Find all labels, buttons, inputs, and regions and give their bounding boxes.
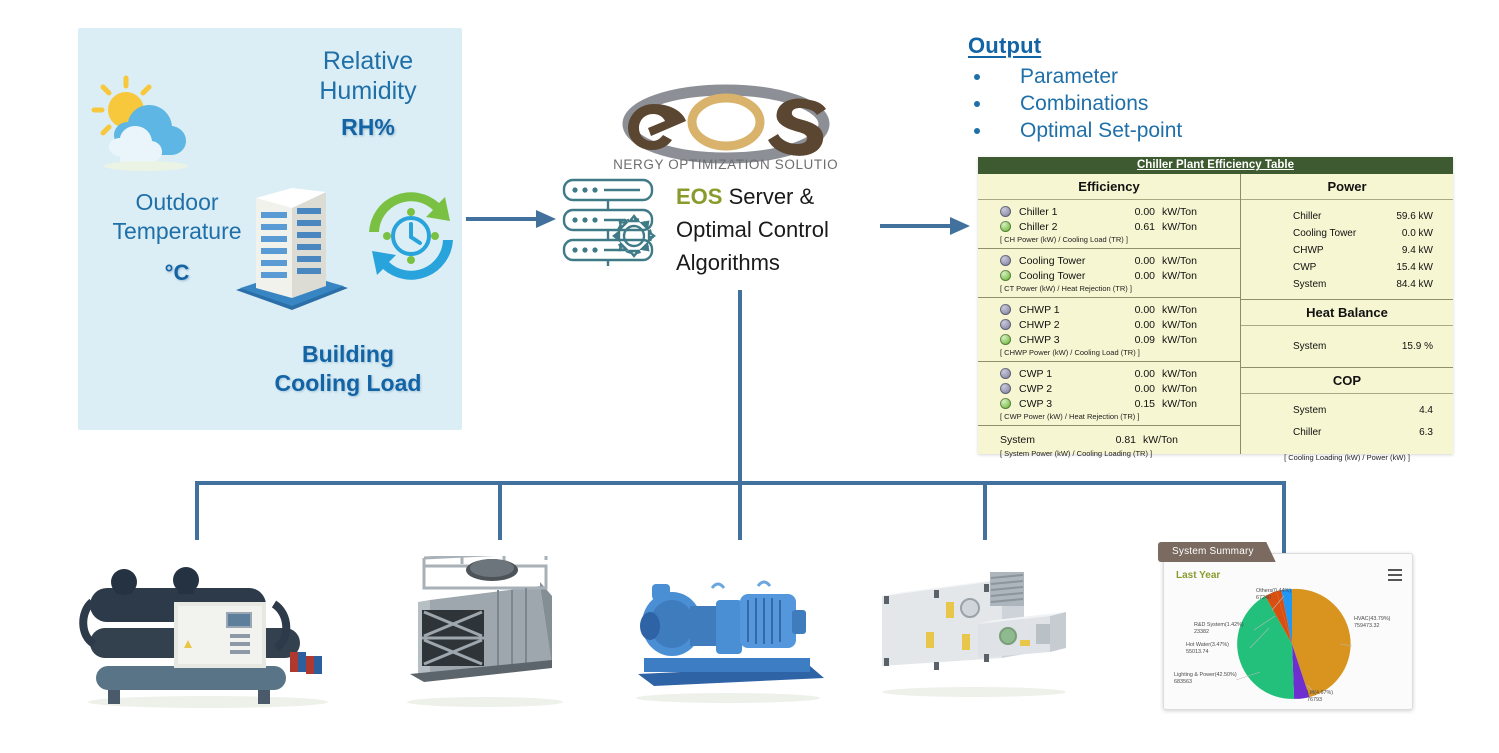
row-value: 0.00 (1115, 383, 1155, 395)
row-value: 4.4 (1373, 405, 1433, 416)
eos-tagline: ENERGY OPTIMIZATION SOLUTION (614, 157, 839, 172)
efficiency-group-cwp: CWP 1 0.00 kW/Ton CWP 2 0.00 kW/Ton CWP … (978, 362, 1240, 426)
row-label: Cooling Tower (1019, 255, 1115, 267)
pie-label-lift: Lift(4.67%)76793 (1307, 690, 1333, 704)
efficiency-group-cooling-tower: Cooling Tower 0.00 kW/Ton Cooling Tower … (978, 249, 1240, 298)
row-label: System (1293, 405, 1373, 416)
status-dot-icon (1000, 398, 1011, 409)
row-label: CHWP 2 (1019, 319, 1115, 331)
cop-rows: System 4.4 Chiller 6.3 (1241, 394, 1453, 443)
row-value: 0.00 (1115, 304, 1155, 316)
row-value: 0.15 (1115, 398, 1155, 410)
arrow-eos-to-output (880, 215, 970, 237)
row-label: CWP 1 (1019, 368, 1115, 380)
status-dot-icon (1000, 304, 1011, 315)
row-value: 0.00 (1115, 368, 1155, 380)
pie-label-others: Others(0.44%)67240 (1256, 588, 1291, 602)
diagram-canvas: RelativeHumidity RH% OutdoorTemperature … (0, 0, 1499, 753)
row-unit: kW/Ton (1155, 319, 1203, 331)
cop-title: COP (1241, 367, 1453, 394)
row-label: System (1000, 434, 1096, 446)
output-item-combinations: Combinations (968, 90, 1268, 117)
bullet-icon (974, 128, 980, 134)
row-label: CWP 3 (1019, 398, 1115, 410)
row-unit: kW/Ton (1155, 221, 1203, 233)
cop-note: [ Cooling Loading (kW) / Power (kW) ] (1241, 443, 1453, 462)
row-value: 0.00 (1115, 255, 1155, 267)
power-column: Power Chiller 59.6 kW Cooling Tower 0.0 … (1241, 174, 1453, 454)
output-item-parameter: Parameter (968, 63, 1268, 90)
table-row: CWP 15.4 kW (1241, 259, 1453, 276)
group-note: [ CWP Power (kW) / Heat Rejection (TR) ] (978, 411, 1240, 423)
dashboard-tab-label[interactable]: System Summary (1158, 542, 1276, 562)
row-unit: kW/Ton (1155, 368, 1203, 380)
output-item-label: Combinations (1020, 92, 1148, 115)
row-unit: kW/Ton (1155, 270, 1203, 282)
sun-cloud-icon (86, 70, 206, 182)
row-label: CWP 2 (1019, 383, 1115, 395)
output-item-optimal-setpoint: Optimal Set-point (968, 117, 1268, 144)
eos-server-caption: EOS Server & Optimal Control Algorithms (676, 180, 896, 279)
table-row: Cooling Tower 0.00 kW/Ton (978, 268, 1240, 283)
table-row: CHWP 3 0.09 kW/Ton (978, 332, 1240, 347)
status-dot-icon (1000, 368, 1011, 379)
efficiency-column: Efficiency Chiller 1 0.00 kW/Ton Chiller… (978, 174, 1241, 454)
row-label: Cooling Tower (1019, 270, 1115, 282)
status-dot-icon (1000, 334, 1011, 345)
table-row: CHWP 9.4 kW (1241, 242, 1453, 259)
table-title: Chiller Plant Efficiency Table (978, 157, 1453, 174)
pie-chart: HVAC(43.79%)759473.32 Lift(4.67%)76793 L… (1164, 580, 1414, 708)
output-block: Output Parameter Combinations Optimal Se… (968, 33, 1268, 144)
building-cooling-load-label: BuildingCooling Load (238, 340, 458, 398)
row-label: Cooling Tower (1293, 228, 1373, 239)
row-value: 0.81 (1096, 434, 1136, 446)
row-value: 6.3 (1373, 427, 1433, 438)
heat-balance-rows: System 15.9 % (1241, 326, 1453, 367)
refresh-clock-icon (363, 188, 458, 286)
pie-label-hot-water: Hot Water(3.47%)55013.74 (1186, 642, 1229, 656)
chiller-plant-efficiency-table: Chiller Plant Efficiency Table Efficienc… (978, 157, 1453, 454)
efficiency-column-title: Efficiency (978, 174, 1240, 200)
row-label: Chiller (1293, 211, 1373, 222)
row-label: CHWP (1293, 245, 1373, 256)
status-dot-icon (1000, 221, 1011, 232)
table-row: CWP 3 0.15 kW/Ton (978, 396, 1240, 411)
row-value: 15.4 kW (1373, 262, 1433, 273)
status-dot-icon (1000, 383, 1011, 394)
row-label: System (1293, 341, 1373, 352)
row-unit: kW/Ton (1155, 398, 1203, 410)
row-value: 0.00 (1115, 270, 1155, 282)
efficiency-group-chwp: CHWP 1 0.00 kW/Ton CHWP 2 0.00 kW/Ton CH… (978, 298, 1240, 362)
status-dot-icon (1000, 206, 1011, 217)
ahu-photo (874, 566, 1074, 698)
chiller-photo (78, 556, 338, 708)
power-column-title: Power (1241, 174, 1453, 200)
row-unit: kW/Ton (1155, 334, 1203, 346)
pie-label-lighting-power: Lighting & Power(42.50%)683563 (1174, 672, 1237, 686)
table-row: Cooling Tower 0.00 kW/Ton (978, 253, 1240, 268)
status-dot-icon (1000, 270, 1011, 281)
row-value: 9.4 kW (1373, 245, 1433, 256)
table-row: Chiller 1 0.00 kW/Ton (978, 204, 1240, 219)
row-label: CWP (1293, 262, 1373, 273)
row-value: 15.9 % (1373, 341, 1433, 352)
table-row: System 15.9 % (1241, 338, 1453, 355)
row-value: 0.00 (1115, 206, 1155, 218)
efficiency-group-chiller: Chiller 1 0.00 kW/Ton Chiller 2 0.61 kW/… (978, 200, 1240, 249)
output-item-label: Parameter (1020, 65, 1118, 88)
eos-logo: ENERGY OPTIMIZATION SOLUTION (614, 62, 839, 174)
table-row: System 84.4 kW (1241, 276, 1453, 293)
row-label: System (1293, 279, 1373, 290)
row-label: Chiller 2 (1019, 221, 1115, 233)
row-unit: kW/Ton (1155, 255, 1203, 267)
efficiency-group-system: System 0.81 kW/Ton [ System Power (kW) /… (978, 426, 1240, 462)
row-value: 0.0 kW (1373, 228, 1433, 239)
row-unit: kW/Ton (1136, 434, 1184, 446)
bullet-icon (974, 101, 980, 107)
row-label: CHWP 3 (1019, 334, 1115, 346)
table-row: System 4.4 (1241, 402, 1453, 424)
cooling-tower-photo (400, 556, 570, 708)
group-note: [ CH Power (kW) / Cooling Load (TR) ] (978, 234, 1240, 246)
eos-caption-line1-rest: Server & (722, 184, 814, 209)
row-value: 0.00 (1115, 319, 1155, 331)
row-unit: kW/Ton (1155, 383, 1203, 395)
group-note: [ CHWP Power (kW) / Cooling Load (TR) ] (978, 347, 1240, 359)
pump-photo (628, 566, 828, 704)
relative-humidity-value: RH% (278, 114, 458, 141)
row-value: 0.61 (1115, 221, 1155, 233)
power-rows: Chiller 59.6 kW Cooling Tower 0.0 kW CHW… (1241, 200, 1453, 299)
table-row: CWP 1 0.00 kW/Ton (978, 366, 1240, 381)
output-item-label: Optimal Set-point (1020, 119, 1182, 142)
row-label: Chiller 1 (1019, 206, 1115, 218)
eos-caption-line3: Algorithms (676, 246, 896, 279)
row-value: 59.6 kW (1373, 211, 1433, 222)
row-value: 0.09 (1115, 334, 1155, 346)
row-unit: kW/Ton (1155, 206, 1203, 218)
arrow-input-to-eos (466, 208, 556, 230)
table-row: Chiller 6.3 (1241, 424, 1453, 441)
eos-brand-word: EOS (676, 184, 722, 209)
table-row: CWP 2 0.00 kW/Ton (978, 381, 1240, 396)
server-gear-icon (560, 176, 664, 266)
pie-label-rd-system: R&D System(1.42%)23382 (1194, 622, 1244, 636)
row-value: 84.4 kW (1373, 279, 1433, 290)
row-label: Chiller (1293, 427, 1373, 438)
table-row: Chiller 59.6 kW (1241, 208, 1453, 225)
table-row: CHWP 2 0.00 kW/Ton (978, 317, 1240, 332)
building-icon (226, 178, 356, 318)
table-row: Cooling Tower 0.0 kW (1241, 225, 1453, 242)
group-note: [ CT Power (kW) / Heat Rejection (TR) ] (978, 283, 1240, 295)
row-label: CHWP 1 (1019, 304, 1115, 316)
table-row: System 0.81 kW/Ton (978, 430, 1240, 448)
relative-humidity-label: RelativeHumidity (278, 46, 458, 106)
output-title: Output (968, 33, 1268, 59)
system-note: [ System Power (kW) / Cooling Loading (T… (978, 448, 1240, 460)
status-dot-icon (1000, 255, 1011, 266)
table-row: Chiller 2 0.61 kW/Ton (978, 219, 1240, 234)
status-dot-icon (1000, 319, 1011, 330)
bullet-icon (974, 74, 980, 80)
pie-label-hvac: HVAC(43.79%)759473.32 (1354, 616, 1390, 630)
heat-balance-title: Heat Balance (1241, 299, 1453, 326)
eos-caption-line2: Optimal Control (676, 213, 896, 246)
dashboard-panel[interactable]: System Summary Last Year (1163, 553, 1413, 710)
table-row: CHWP 1 0.00 kW/Ton (978, 302, 1240, 317)
output-list: Parameter Combinations Optimal Set-point (968, 63, 1268, 144)
row-unit: kW/Ton (1155, 304, 1203, 316)
input-parameters-panel: RelativeHumidity RH% OutdoorTemperature … (78, 28, 462, 430)
